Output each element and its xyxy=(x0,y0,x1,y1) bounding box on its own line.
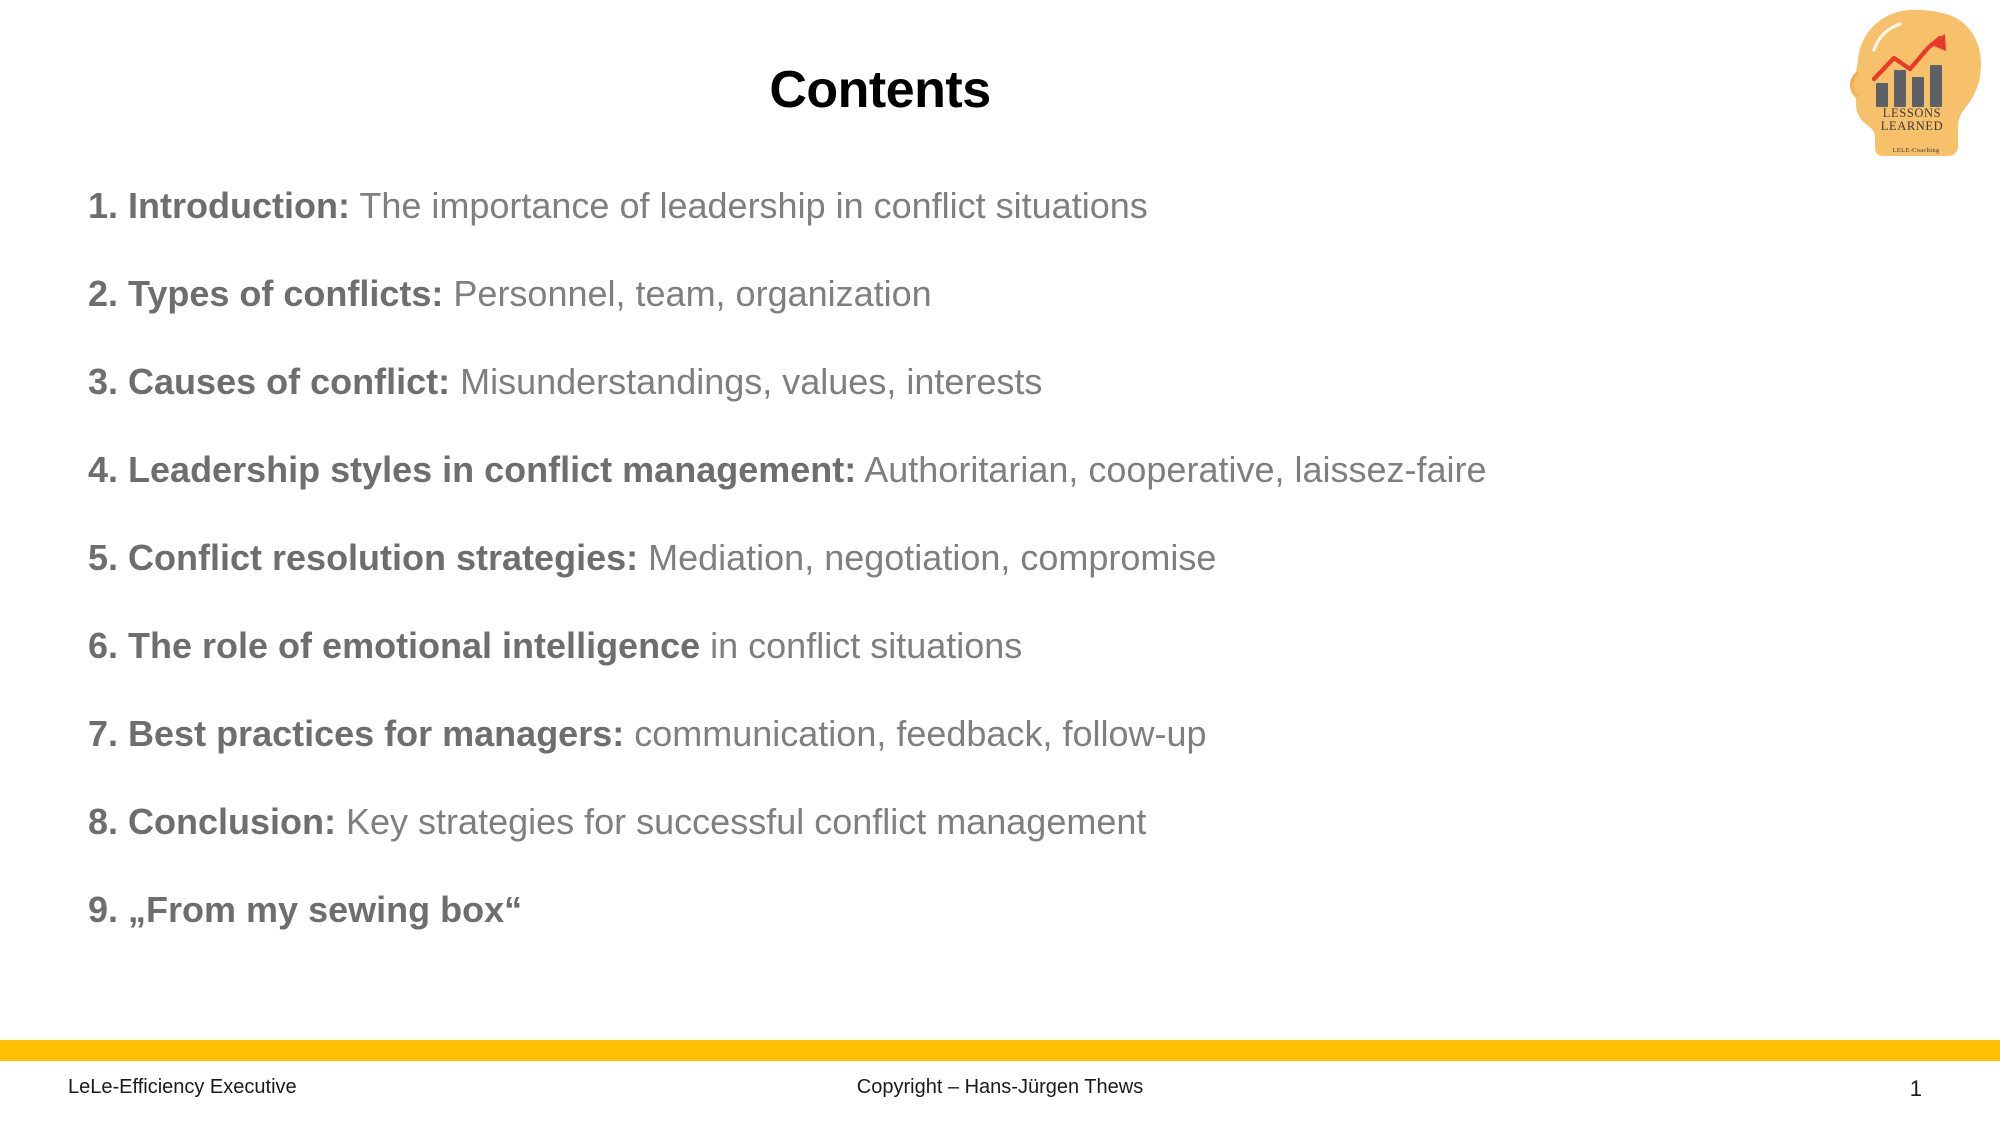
slide-footer: LeLe-Efficiency Executive Copyright – Ha… xyxy=(0,1076,2000,1116)
contents-item-rest: Mediation, negotiation, compromise xyxy=(638,537,1216,578)
footer-copyright: Copyright – Hans-Jürgen Thews xyxy=(0,1076,2000,1099)
contents-item-number: 1. xyxy=(88,185,128,226)
contents-item-lead: Leadership styles in conflict management… xyxy=(128,449,856,490)
contents-item-rest: Misunderstandings, values, interests xyxy=(450,361,1042,402)
contents-item-number: 4. xyxy=(88,449,128,490)
contents-item-7: 7. Best practices for managers: communic… xyxy=(88,716,1958,752)
contents-item-lead: Causes of conflict: xyxy=(128,361,450,402)
contents-item-rest: Personnel, team, organization xyxy=(443,273,931,314)
contents-item-lead: Types of conflicts: xyxy=(128,273,443,314)
contents-item-rest: Authoritarian, cooperative, laissez-fair… xyxy=(856,449,1486,490)
contents-item-number: 5. xyxy=(88,537,128,578)
contents-item-1: 1. Introduction: The importance of leade… xyxy=(88,188,1958,224)
footer-page-number: 1 xyxy=(1910,1076,1922,1102)
logo-line2: LEARNED xyxy=(1881,119,1944,133)
page-title: Contents xyxy=(0,62,1760,119)
contents-list: 1. Introduction: The importance of leade… xyxy=(88,188,1958,980)
logo-tagline: LELE-Coaching xyxy=(1893,147,1940,154)
slide-canvas: Contents LESSONS LEARNED xyxy=(0,0,2000,1125)
contents-item-number: 9. xyxy=(88,889,128,930)
contents-item-rest: in conflict situations xyxy=(700,625,1022,666)
contents-item-8: 8. Conclusion: Key strategies for succes… xyxy=(88,804,1958,840)
lessons-learned-head-logo: LESSONS LEARNED LELE-Coaching xyxy=(1850,6,1986,172)
contents-item-rest: Key strategies for successful conflict m… xyxy=(336,801,1146,842)
contents-item-3: 3. Causes of conflict: Misunderstandings… xyxy=(88,364,1958,400)
contents-item-6: 6. The role of emotional intelligence in… xyxy=(88,628,1958,664)
contents-item-lead: Best practices for managers: xyxy=(128,713,624,754)
contents-item-number: 2. xyxy=(88,273,128,314)
logo-line1: LESSONS xyxy=(1883,106,1941,120)
contents-item-5: 5. Conflict resolution strategies: Media… xyxy=(88,540,1958,576)
contents-item-number: 7. xyxy=(88,713,128,754)
contents-item-number: 3. xyxy=(88,361,128,402)
contents-item-lead: Conclusion: xyxy=(128,801,336,842)
contents-item-rest: communication, feedback, follow-up xyxy=(624,713,1206,754)
contents-item-rest: The importance of leadership in conflict… xyxy=(350,185,1148,226)
contents-item-number: 8. xyxy=(88,801,128,842)
contents-item-lead: „From my sewing box“ xyxy=(128,889,522,930)
contents-item-lead: Introduction: xyxy=(128,185,350,226)
contents-item-lead: The role of emotional intelligence xyxy=(128,625,700,666)
contents-item-lead: Conflict resolution strategies: xyxy=(128,537,638,578)
contents-item-number: 6. xyxy=(88,625,128,666)
contents-item-4: 4. Leadership styles in conflict managem… xyxy=(88,452,1958,488)
footer-accent-bar xyxy=(0,1040,2000,1061)
contents-item-2: 2. Types of conflicts: Personnel, team, … xyxy=(88,276,1958,312)
contents-item-9: 9. „From my sewing box“ xyxy=(88,892,1958,928)
